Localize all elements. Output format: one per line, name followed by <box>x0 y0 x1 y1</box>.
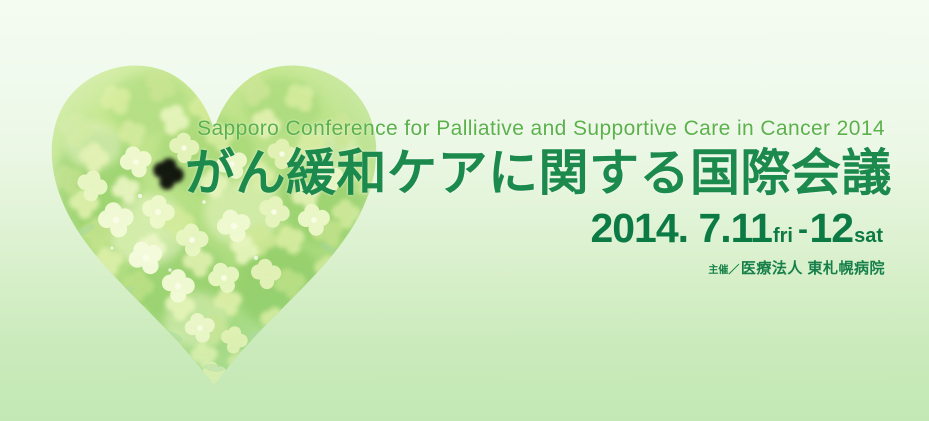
date-start-weekday: fri <box>773 225 793 247</box>
date-range-separator: - <box>798 213 808 246</box>
conference-date: 2014. 7.11fri-12sat <box>185 208 885 249</box>
date-end-day: 12 <box>809 205 853 251</box>
conference-banner: Sapporo Conference for Palliative and Su… <box>0 0 929 421</box>
organizer-line: 主催／医療法人 東札幌病院 <box>185 261 885 276</box>
banner-text-block: Sapporo Conference for Palliative and Su… <box>185 118 885 276</box>
date-end-weekday: sat <box>854 225 883 247</box>
conference-subtitle-english: Sapporo Conference for Palliative and Su… <box>185 118 885 139</box>
organizer-name: 医療法人 東札幌病院 <box>741 260 885 277</box>
conference-title-japanese: がん緩和ケアに関する国際会議 <box>185 148 885 198</box>
date-year-month-day: 2014. 7.11 <box>590 205 772 251</box>
organizer-prefix-label: 主催 <box>708 265 728 276</box>
organizer-separator: ／ <box>728 264 740 276</box>
